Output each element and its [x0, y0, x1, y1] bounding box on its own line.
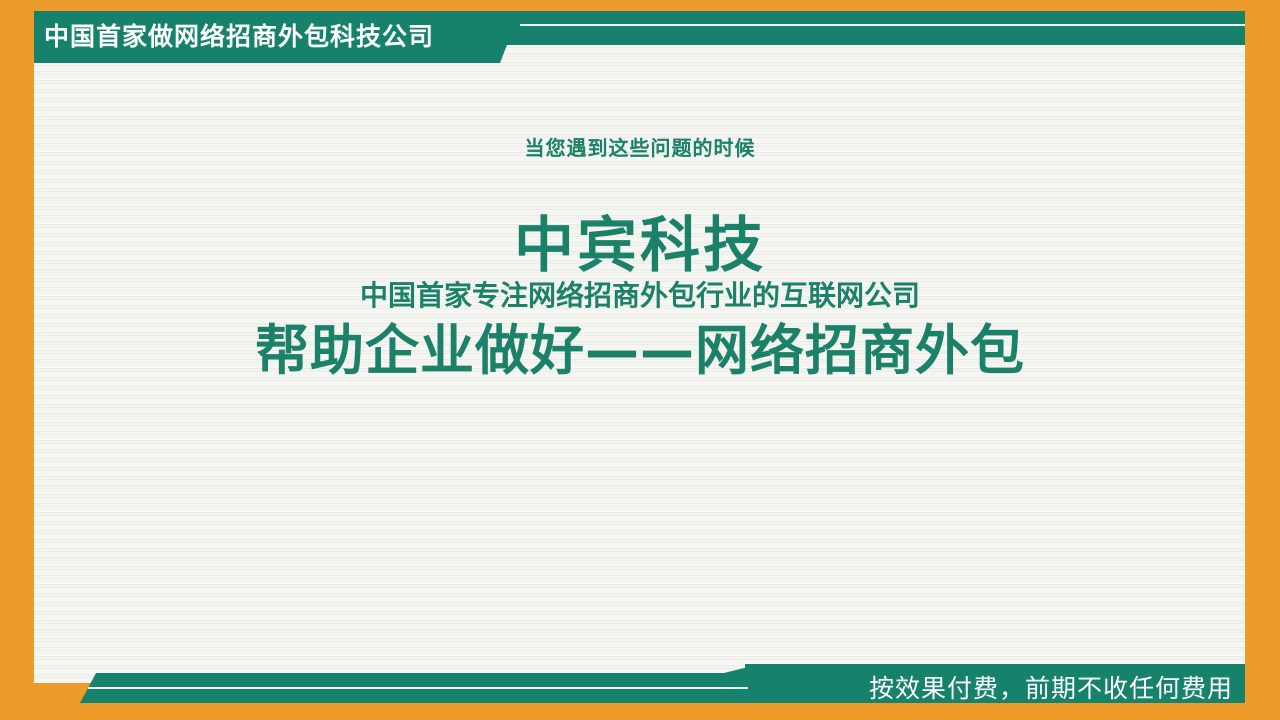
header-title: 中国首家做网络招商外包科技公司: [44, 16, 434, 54]
presentation-slide: 中国首家做网络招商外包科技公司 当您遇到这些问题的时候 中宾科技 中国首家专注网…: [0, 0, 1280, 720]
footer-note: 按效果付费，前期不收任何费用: [869, 669, 1233, 705]
slide-body: 当您遇到这些问题的时候 中宾科技 中国首家专注网络招商外包行业的互联网公司 帮助…: [0, 0, 1280, 720]
slide-footer: 按效果付费，前期不收任何费用: [0, 654, 1280, 720]
main-headline: 帮助企业做好——网络招商外包: [0, 320, 1280, 382]
eyebrow-text: 当您遇到这些问题的时候: [0, 132, 1280, 161]
brand-tagline: 中国首家专注网络招商外包行业的互联网公司: [0, 281, 1280, 312]
brand-name: 中宾科技: [0, 215, 1280, 278]
slide-header: 中国首家做网络招商外包科技公司: [0, 11, 1280, 63]
